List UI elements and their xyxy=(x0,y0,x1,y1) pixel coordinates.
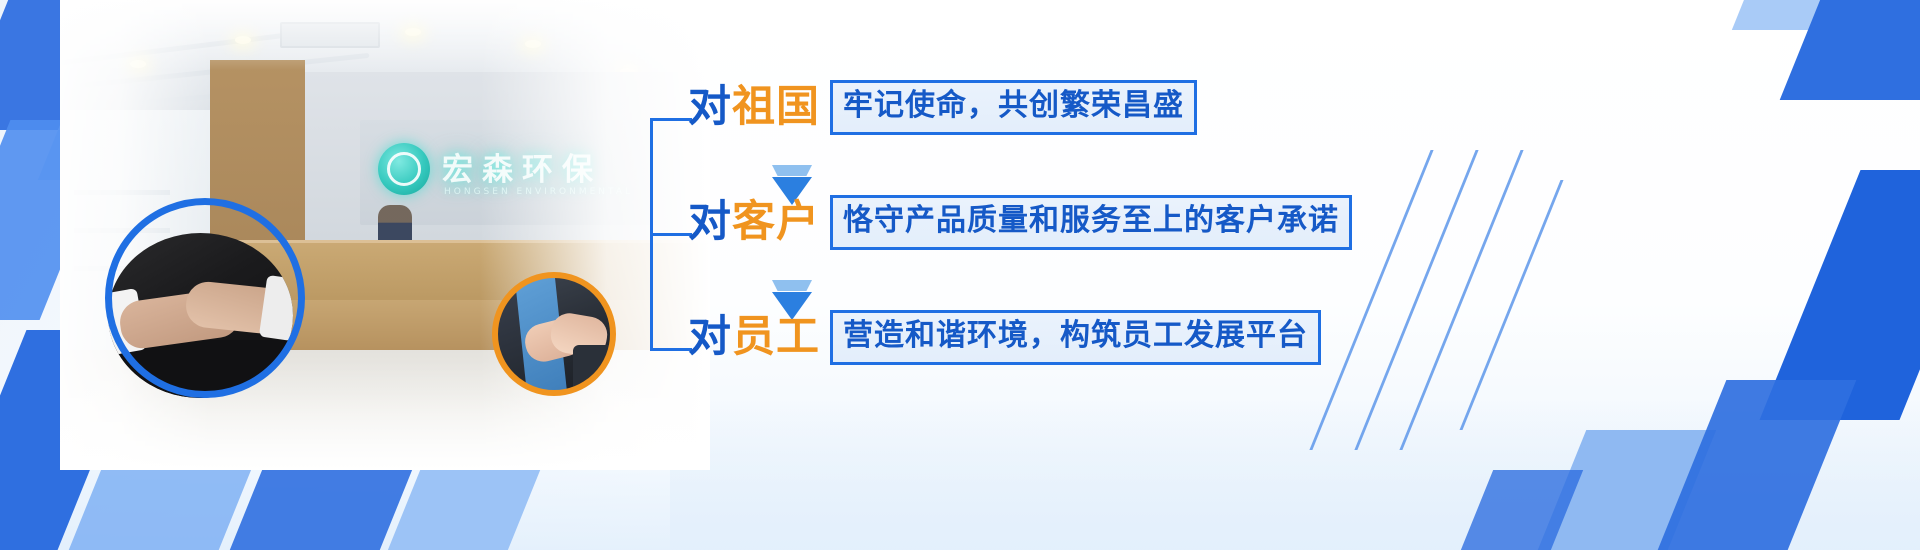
globe-leaf-icon xyxy=(378,143,430,195)
promo-banner: 宏森环保 HONGSEN ENVIRONMENTAL xyxy=(0,0,1920,550)
value-key-prefix: 对 xyxy=(688,82,732,132)
arrow-top-segment xyxy=(772,280,812,291)
value-key-nation: 对祖国 xyxy=(688,86,820,129)
arrow-top-segment xyxy=(772,165,812,176)
value-row-employee: 对员工 营造和谐环境，构筑员工发展平台 xyxy=(688,310,1321,365)
value-key-customer: 对客户 xyxy=(688,201,820,244)
tree-branch-1 xyxy=(650,118,692,121)
value-statement-nation: 牢记使命，共创繁荣昌盛 xyxy=(830,80,1197,135)
value-key-accent: 客户 xyxy=(732,197,820,247)
inset-ring-orange xyxy=(492,272,616,396)
value-statement-customer: 恪守产品质量和服务至上的客户承诺 xyxy=(830,195,1352,250)
value-statement-employee: 营造和谐环境，构筑员工发展平台 xyxy=(830,310,1321,365)
value-key-accent: 员工 xyxy=(732,312,820,362)
value-key-accent: 祖国 xyxy=(732,82,820,132)
tree-branch-3 xyxy=(650,348,692,351)
value-key-prefix: 对 xyxy=(688,197,732,247)
value-row-nation: 对祖国 牢记使命，共创繁荣昌盛 xyxy=(688,80,1197,135)
value-key-employee: 对员工 xyxy=(688,316,820,359)
values-tree: 对祖国 牢记使命，共创繁荣昌盛 对客户 恪守产品质量和服务至上的客户承诺 对员工… xyxy=(650,70,1410,400)
inset-ring-blue xyxy=(105,198,305,398)
tree-branch-2 xyxy=(650,233,692,236)
value-row-customer: 对客户 恪守产品质量和服务至上的客户承诺 xyxy=(688,195,1352,250)
value-key-prefix: 对 xyxy=(688,312,732,362)
logo-inner-ring xyxy=(387,152,421,186)
